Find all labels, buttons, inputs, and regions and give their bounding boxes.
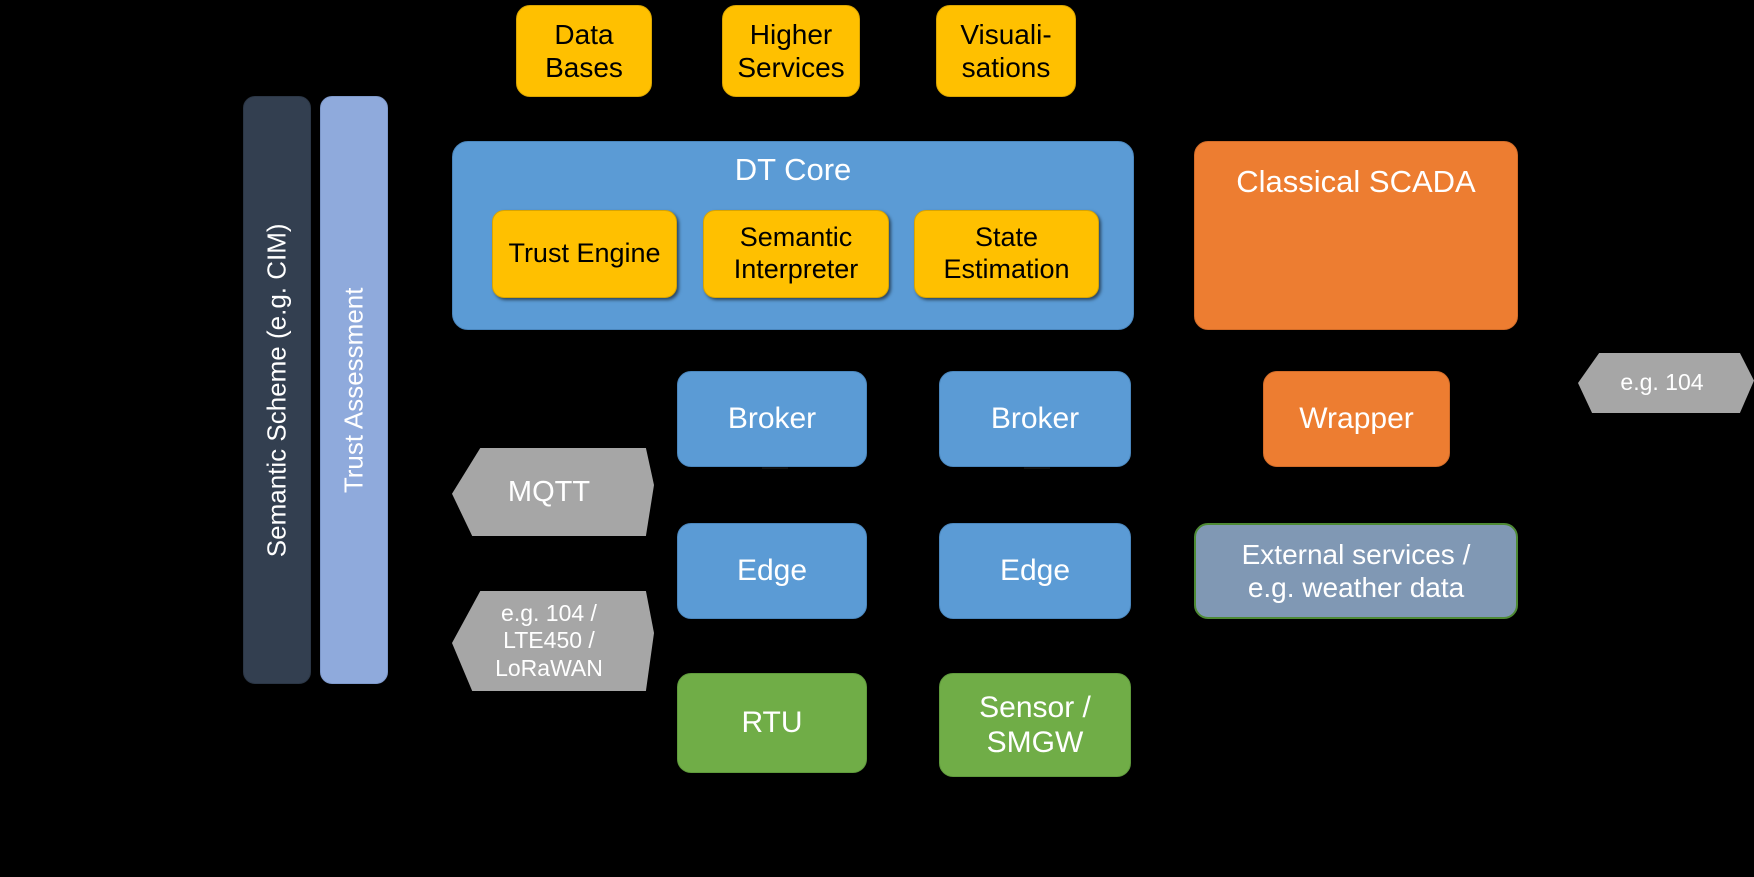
banner-mqtt: MQTT xyxy=(452,448,654,536)
box-data-bases-label: Data Bases xyxy=(545,18,623,84)
box-broker-right[interactable]: Broker xyxy=(939,371,1131,467)
banner-scada-protocol-label: e.g. 104 xyxy=(1578,369,1754,397)
vertical-bar-trust-assessment: Trust Assessment xyxy=(320,96,388,684)
dt-core-title: DT Core xyxy=(453,152,1133,188)
banner-serial-protocols-label: e.g. 104 / LTE450 / LoRaWAN xyxy=(452,600,654,683)
vertical-bar-trust-assessment-label: Trust Assessment xyxy=(339,287,370,493)
box-trust-engine-label: Trust Engine xyxy=(508,238,660,270)
box-broker-left[interactable]: Broker xyxy=(677,371,867,467)
box-semantic-interpreter-label: Semantic Interpreter xyxy=(734,222,859,286)
box-rtu-label: RTU xyxy=(741,705,802,740)
architecture-diagram: Semantic Scheme (e.g. CIM) Trust Assessm… xyxy=(0,0,1754,877)
box-wrapper-label: Wrapper xyxy=(1299,401,1414,436)
vertical-bar-semantic-scheme-label: Semantic Scheme (e.g. CIM) xyxy=(262,223,293,557)
box-higher-services-label: Higher Services xyxy=(737,18,844,84)
box-visualisations-label: Visuali- sations xyxy=(960,18,1051,84)
banner-scada-protocol: e.g. 104 xyxy=(1578,353,1754,413)
box-edge-left-label: Edge xyxy=(737,553,807,588)
container-dt-core[interactable]: DT Core Trust Engine Semantic Interprete… xyxy=(452,141,1134,330)
box-edge-left[interactable]: Edge xyxy=(677,523,867,619)
box-sensor-smgw-label: Sensor / SMGW xyxy=(979,690,1091,761)
box-higher-services[interactable]: Higher Services xyxy=(722,5,860,97)
banner-mqtt-label: MQTT xyxy=(452,475,654,510)
banner-serial-protocols: e.g. 104 / LTE450 / LoRaWAN xyxy=(452,591,654,691)
box-rtu[interactable]: RTU xyxy=(677,673,867,773)
box-edge-right-label: Edge xyxy=(1000,553,1070,588)
box-classical-scada-label: Classical SCADA xyxy=(1236,164,1475,201)
box-external-services[interactable]: External services / e.g. weather data xyxy=(1194,523,1518,619)
box-edge-right[interactable]: Edge xyxy=(939,523,1131,619)
box-classical-scada[interactable]: Classical SCADA xyxy=(1194,141,1518,330)
box-external-services-label: External services / e.g. weather data xyxy=(1242,538,1471,604)
box-state-estimation-label: State Estimation xyxy=(943,222,1069,286)
box-data-bases[interactable]: Data Bases xyxy=(516,5,652,97)
box-visualisations[interactable]: Visuali- sations xyxy=(936,5,1076,97)
box-sensor-smgw[interactable]: Sensor / SMGW xyxy=(939,673,1131,777)
box-state-estimation[interactable]: State Estimation xyxy=(914,210,1099,298)
box-trust-engine[interactable]: Trust Engine xyxy=(492,210,677,298)
box-wrapper[interactable]: Wrapper xyxy=(1263,371,1450,467)
box-broker-left-label: Broker xyxy=(728,401,816,436)
box-semantic-interpreter[interactable]: Semantic Interpreter xyxy=(703,210,889,298)
vertical-bar-semantic-scheme: Semantic Scheme (e.g. CIM) xyxy=(243,96,311,684)
box-broker-right-label: Broker xyxy=(991,401,1079,436)
